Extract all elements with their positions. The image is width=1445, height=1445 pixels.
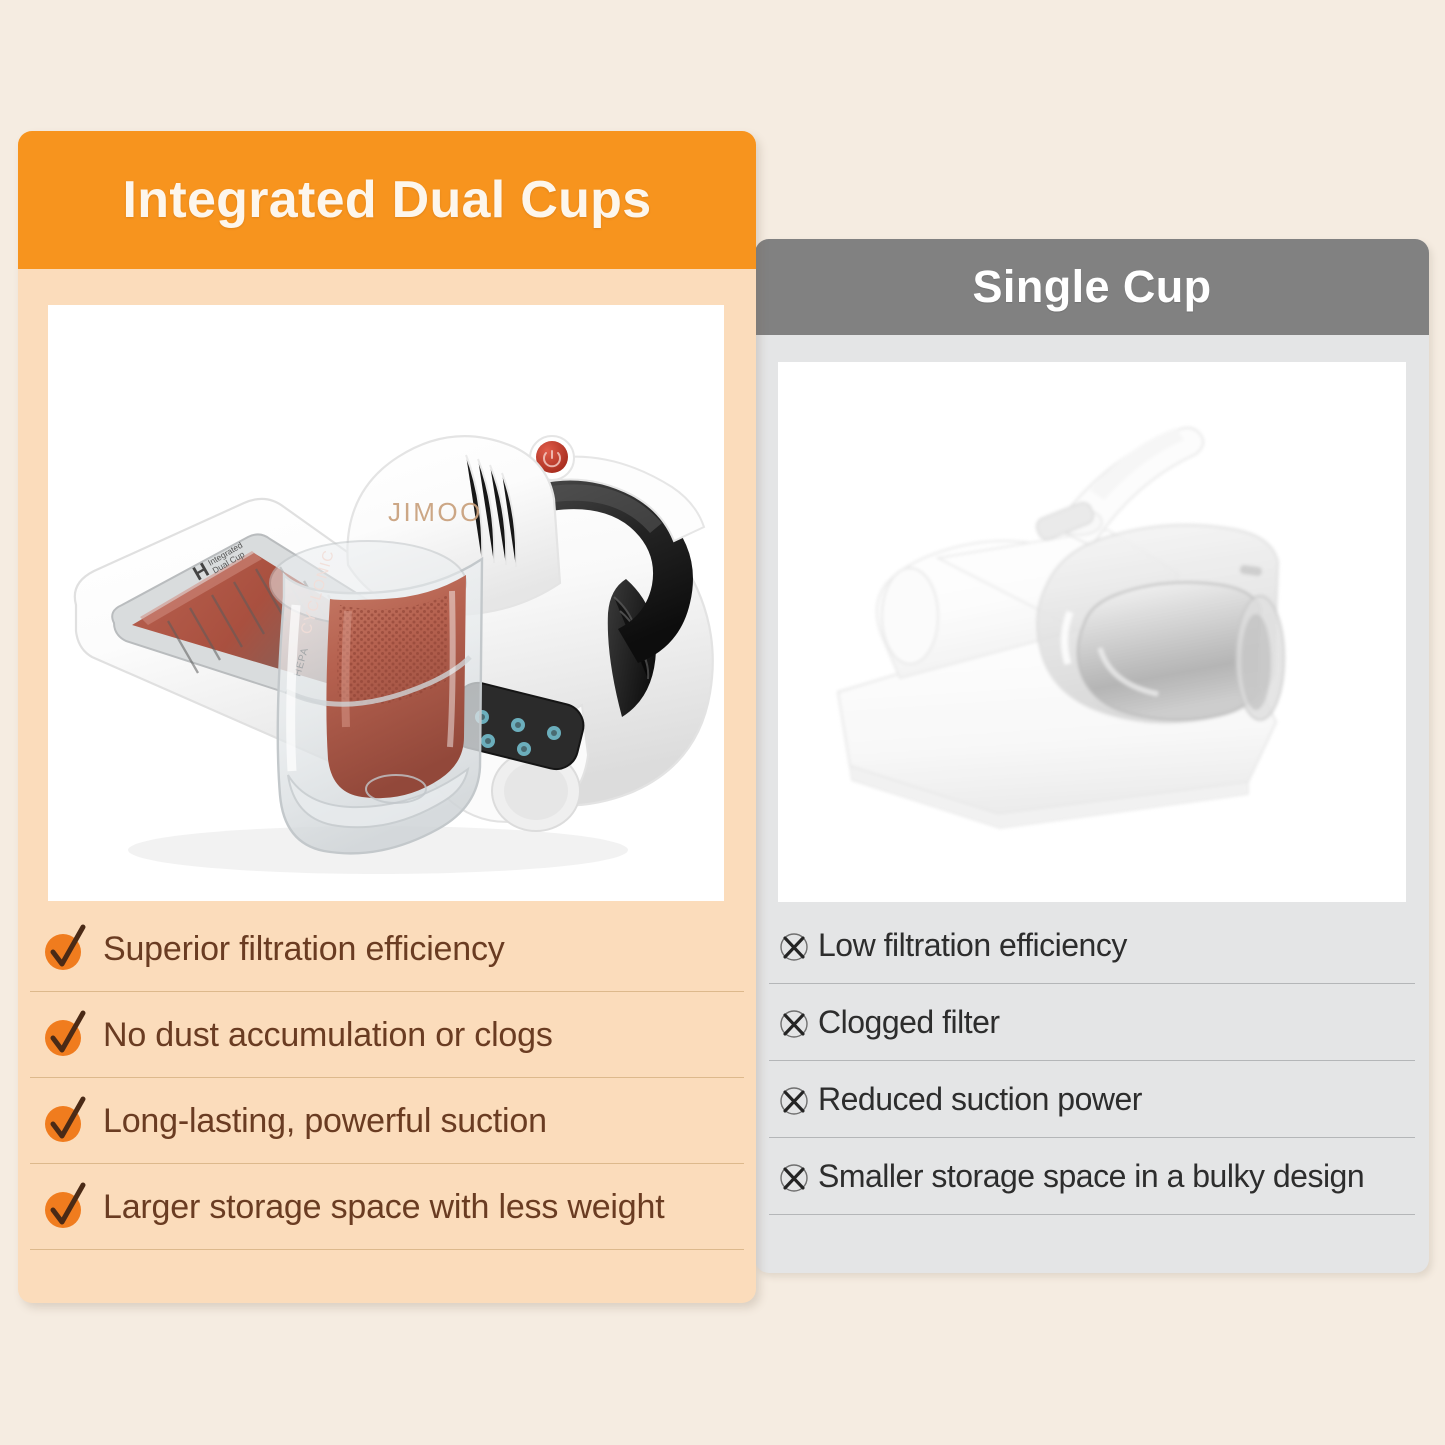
x-circle-icon (777, 929, 811, 963)
single-cup-card: Single Cup (755, 239, 1429, 1273)
list-item: Low filtration efficiency (769, 907, 1415, 984)
check-circle-icon (40, 1182, 90, 1232)
list-item-label: Long-lasting, powerful suction (103, 1102, 547, 1141)
list-item: Reduced suction power (769, 1061, 1415, 1138)
list-item-label: Clogged filter (818, 1004, 1000, 1041)
list-item-label: Smaller storage space in a bulky design (818, 1158, 1364, 1195)
list-item-label: Low filtration efficiency (818, 927, 1127, 964)
single-cup-product-image (778, 362, 1406, 902)
list-item: Superior filtration efficiency (30, 906, 744, 992)
single-cup-card-title: Single Cup (973, 261, 1212, 313)
check-circle-icon (40, 924, 90, 974)
list-item-label: Superior filtration efficiency (103, 930, 505, 969)
check-circle-icon (40, 1010, 90, 1060)
single-cup-vacuum-illustration (778, 362, 1406, 902)
x-circle-icon (777, 1160, 811, 1194)
brand-label: JIMOO (388, 497, 483, 527)
dual-cups-card: Integrated Dual Cups (18, 131, 756, 1303)
list-item-label: Larger storage space with less weight (103, 1188, 664, 1227)
list-item: Clogged filter (769, 984, 1415, 1061)
comparison-infographic: Single Cup (0, 0, 1445, 1445)
row-separator (769, 1214, 1415, 1215)
x-circle-icon (777, 1083, 811, 1117)
x-circle-icon (777, 1006, 811, 1040)
dual-cups-card-header: Integrated Dual Cups (18, 131, 756, 269)
single-cup-drawback-list: Low filtration efficiency Clogged filter… (769, 907, 1415, 1257)
single-cup-card-header: Single Cup (755, 239, 1429, 335)
list-item: No dust accumulation or clogs (30, 992, 744, 1078)
list-item: Smaller storage space in a bulky design (769, 1138, 1415, 1215)
list-item: Larger storage space with less weight (30, 1164, 744, 1250)
list-item: Long-lasting, powerful suction (30, 1078, 744, 1164)
list-item-label: No dust accumulation or clogs (103, 1016, 553, 1055)
row-separator (30, 1249, 744, 1250)
dual-cups-benefit-list: Superior filtration efficiency No dust a… (30, 906, 744, 1286)
dual-cups-vacuum-illustration: H Integrated Dual Cup (48, 305, 724, 901)
check-circle-icon (40, 1096, 90, 1146)
list-item-label: Reduced suction power (818, 1081, 1142, 1118)
dual-cups-card-title: Integrated Dual Cups (123, 170, 652, 230)
dual-cups-product-image: H Integrated Dual Cup (48, 305, 724, 901)
